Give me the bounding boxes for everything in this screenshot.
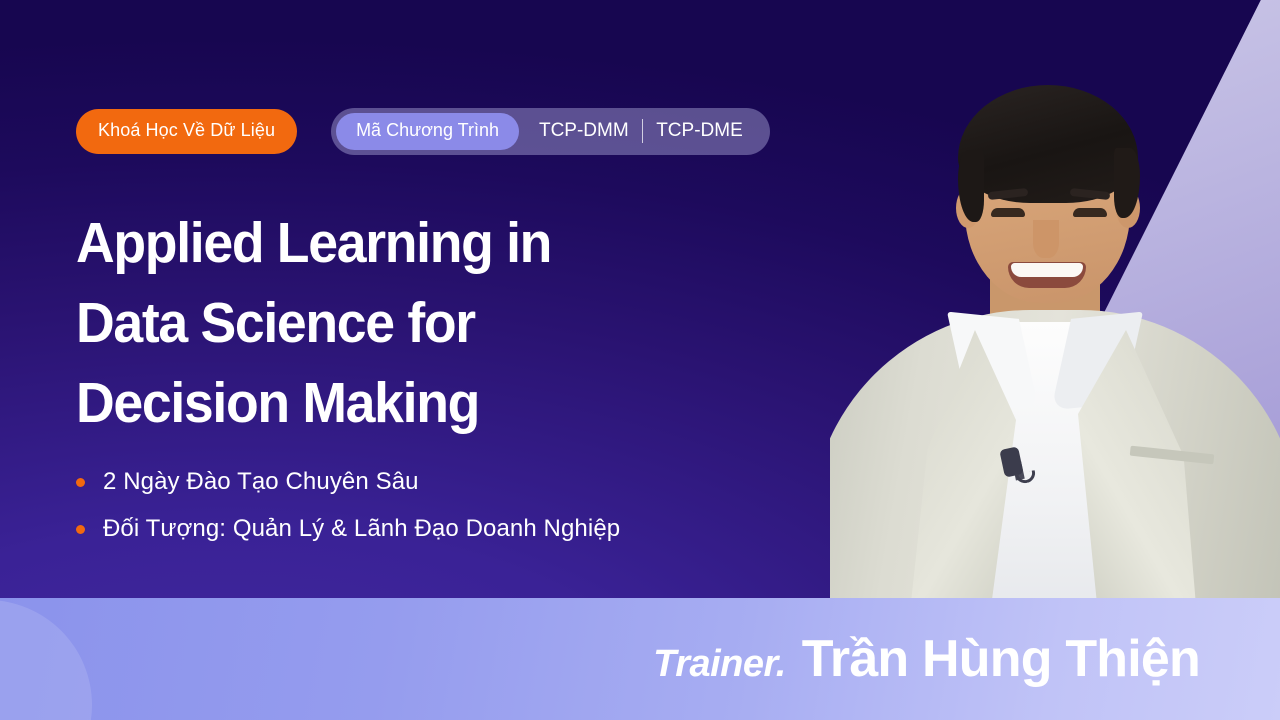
trainer-name: Trần Hùng Thiện — [802, 629, 1200, 689]
code-separator-divider — [642, 119, 644, 143]
program-code-value-1: TCP-DMM — [539, 120, 629, 142]
page-title-line-2: Data Science for — [76, 283, 551, 363]
presenter-hair — [958, 85, 1138, 203]
presenter-photo — [830, 30, 1280, 625]
badge-row: Khoá Học Về Dữ Liệu Mã Chương Trình TCP-… — [76, 108, 770, 155]
page-title-line-1: Applied Learning in — [76, 203, 551, 283]
program-code-label: Mã Chương Trình — [336, 113, 519, 150]
category-badge[interactable]: Khoá Học Về Dữ Liệu — [76, 109, 297, 154]
presenter-eye-left — [991, 208, 1025, 217]
feature-list: 2 Ngày Đào Tạo Chuyên Sâu Đối Tượng: Quả… — [76, 468, 620, 562]
page-title-line-3: Decision Making — [76, 363, 551, 443]
presenter-nose — [1033, 220, 1059, 258]
presenter-mouth — [1008, 262, 1086, 288]
course-promo-banner: Khoá Học Về Dữ Liệu Mã Chương Trình TCP-… — [0, 0, 1280, 720]
page-title: Applied Learning in Data Science for Dec… — [76, 203, 551, 443]
program-code-value-2: TCP-DME — [656, 120, 743, 142]
list-item-label: Đối Tượng: Quản Lý & Lãnh Đạo Doanh Nghi… — [103, 515, 620, 543]
bullet-dot-icon — [76, 525, 85, 534]
list-item-label: 2 Ngày Đào Tạo Chuyên Sâu — [103, 468, 419, 496]
decorative-circle-shape — [0, 600, 92, 720]
list-item: 2 Ngày Đào Tạo Chuyên Sâu — [76, 468, 620, 496]
presenter-teeth — [1011, 263, 1083, 277]
bullet-dot-icon — [76, 478, 85, 487]
program-code-pill: Mã Chương Trình TCP-DMM TCP-DME — [331, 108, 770, 155]
presenter-eye-right — [1073, 208, 1107, 217]
trainer-label: Trainer. — [653, 643, 786, 686]
trainer-credit: Trainer. Trần Hùng Thiện — [653, 629, 1200, 689]
list-item: Đối Tượng: Quản Lý & Lãnh Đạo Doanh Nghi… — [76, 515, 620, 543]
footer-bar: Trainer. Trần Hùng Thiện — [0, 598, 1280, 720]
program-code-values: TCP-DMM TCP-DME — [519, 119, 765, 145]
